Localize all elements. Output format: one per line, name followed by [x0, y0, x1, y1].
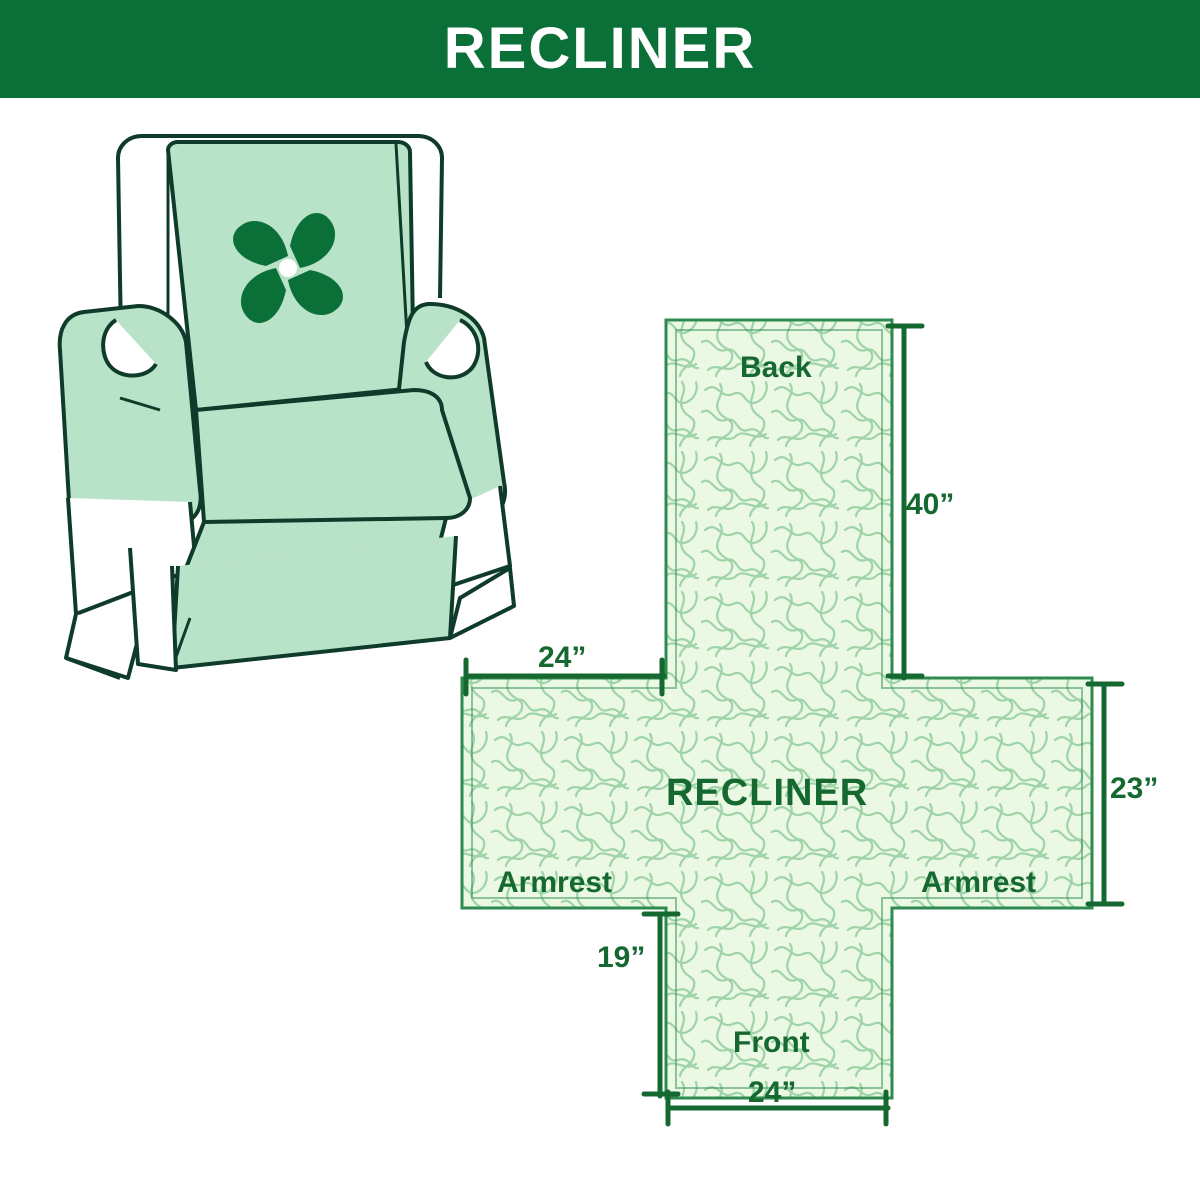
- dimension-back-height: 40”: [906, 490, 954, 520]
- label-back: Back: [740, 353, 812, 383]
- diagram-canvas: [0, 98, 1200, 1200]
- label-center-recliner: RECLINER: [666, 774, 868, 812]
- dimension-front-width: 24”: [748, 1078, 796, 1108]
- dimension-back-width: 24”: [538, 643, 586, 673]
- label-armrest-right: Armrest: [921, 868, 1036, 898]
- label-front: Front: [733, 1028, 810, 1058]
- page-title: RECLINER: [444, 20, 756, 78]
- dimension-seat-depth: 23”: [1110, 774, 1158, 804]
- dimension-front-height: 19”: [597, 943, 645, 973]
- recliner-chair-illustration: [60, 136, 514, 678]
- label-armrest-left: Armrest: [497, 868, 612, 898]
- cover-layout-shape: [462, 320, 1092, 1098]
- page-header: RECLINER: [0, 0, 1200, 98]
- diagram-stage: Back Front Armrest Armrest RECLINER 40” …: [0, 98, 1200, 1200]
